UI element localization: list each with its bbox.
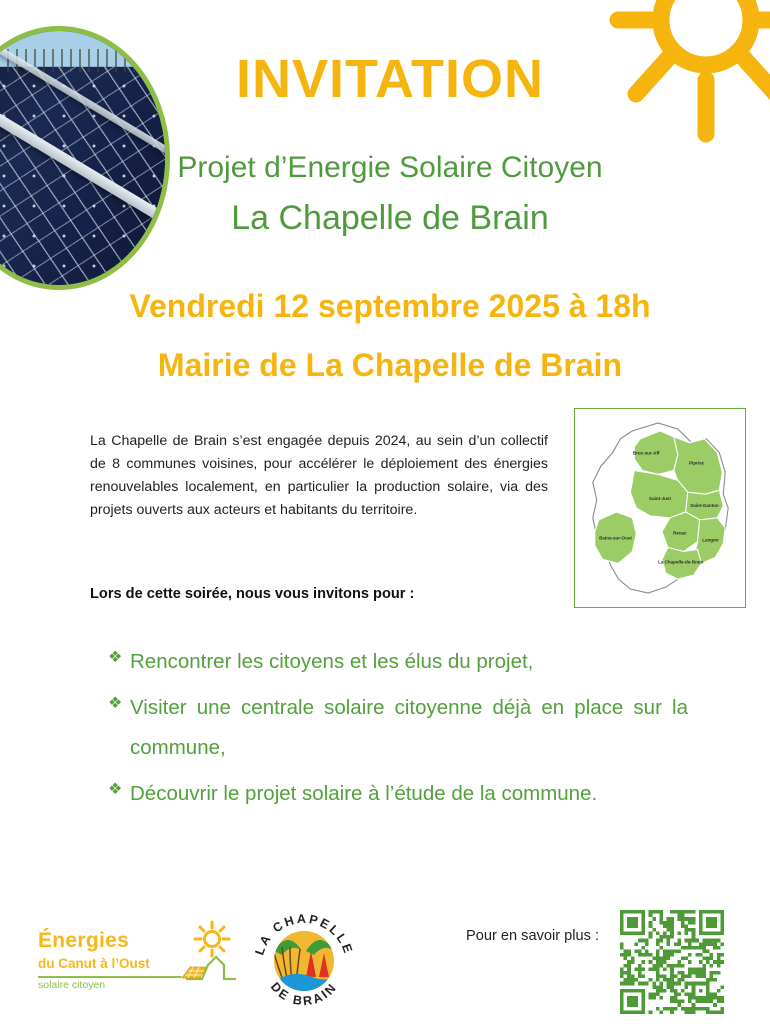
map-label-saint-ganton: Saint-Ganton <box>690 503 719 508</box>
logo-energies-title: Énergies <box>38 929 129 953</box>
invitation-lead-in: Lors de cette soirée, nous vous invitons… <box>90 586 560 602</box>
logo-energies-tagline: solaire citoyen <box>38 979 105 991</box>
intro-paragraph: La Chapelle de Brain s’est engagée depui… <box>90 430 548 522</box>
communes-map: Bruc-sur-Aff Pipriac Saint-Just Saint-Ga… <box>574 408 746 608</box>
invitation-poster: INVITATION Projet d’Energie Solaire Cito… <box>0 0 770 1024</box>
logo-sun-house-panel-icon <box>180 919 252 985</box>
list-item: ❖ Rencontrer les citoyens et les élus du… <box>108 642 688 682</box>
map-label-bruc-sur-aff: Bruc-sur-Aff <box>633 451 660 456</box>
list-item-label: Découvrir le projet solaire à l’étude de… <box>130 774 688 814</box>
qr-lead-text: Pour en savoir plus : <box>466 928 599 944</box>
qr-code-icon[interactable] <box>620 910 724 1014</box>
diamond-bullet-icon: ❖ <box>108 774 130 805</box>
map-label-saint-just: Saint-Just <box>649 496 671 501</box>
page-title: INVITATION <box>170 52 610 106</box>
map-label-pipriac: Pipriac <box>689 461 705 466</box>
project-location-subtitle: La Chapelle de Brain <box>140 198 640 238</box>
event-date: Vendredi 12 septembre 2025 à 18h <box>80 287 700 325</box>
logo-la-chapelle-de-brain: LA CHAPELLE DE BRAIN <box>248 903 360 1015</box>
logo-energies-rule <box>38 976 190 978</box>
project-subtitle: Projet d’Energie Solaire Citoyen <box>140 150 640 185</box>
list-item-label: Rencontrer les citoyens et les élus du p… <box>130 642 688 682</box>
diamond-bullet-icon: ❖ <box>108 642 130 673</box>
map-label-renac: Renac <box>673 531 687 536</box>
list-item: ❖ Découvrir le projet solaire à l’étude … <box>108 774 688 814</box>
list-item-label: Visiter une centrale solaire citoyenne d… <box>130 688 688 768</box>
event-venue: Mairie de La Chapelle de Brain <box>80 346 700 384</box>
diamond-bullet-icon: ❖ <box>108 688 130 719</box>
logo-energies-canut-oust: Énergies du Canut à l’Oust solaire citoy… <box>38 925 238 997</box>
map-label-la-chapelle-de-brain: La Chapelle-de-Brain <box>658 559 704 564</box>
list-item: ❖ Visiter une centrale solaire citoyenne… <box>108 688 688 768</box>
map-label-bains-sur-oust: Bains-sur-Oust <box>599 536 632 541</box>
activities-list: ❖ Rencontrer les citoyens et les élus du… <box>108 642 688 820</box>
sun-icon <box>195 922 229 956</box>
logo-energies-subtitle: du Canut à l’Oust <box>38 956 150 971</box>
map-label-langon: Langon <box>702 538 719 543</box>
sun-icon <box>594 0 770 158</box>
